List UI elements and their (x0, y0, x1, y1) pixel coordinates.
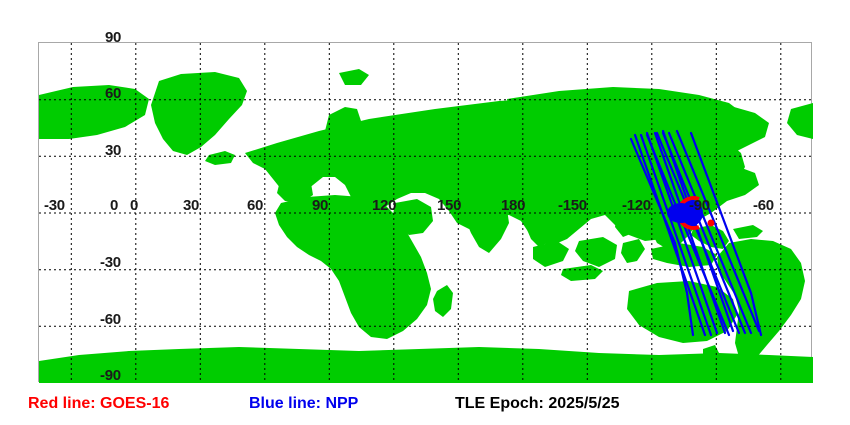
eurasia-wrap-shape (787, 103, 813, 139)
legend-blue-line-npp: Blue line: NPP (249, 396, 358, 412)
lat-label--30: -30 (100, 255, 121, 270)
lon-label-0: 0 (130, 198, 138, 213)
lat-label-60: 60 (105, 86, 121, 101)
iceland-shape (205, 151, 235, 165)
lat-label-0: 0 (110, 198, 118, 213)
svalbard-shape (339, 69, 369, 85)
antarctica-shape (39, 347, 813, 383)
java-shape (561, 265, 603, 281)
lon-label-60: 60 (247, 198, 263, 213)
legend-tle-epoch: TLE Epoch: 2025/5/25 (455, 396, 620, 412)
caribbean-shape (733, 225, 763, 239)
borneo-shape (575, 237, 617, 267)
lat-label-90: 90 (105, 30, 121, 45)
lon-label-180: 180 (501, 198, 525, 213)
lon-label--30: -30 (44, 198, 65, 213)
legend: Red line: GOES-16 Blue line: NPP TLE Epo… (0, 392, 850, 420)
legend-red-line-goes16: Red line: GOES-16 (28, 396, 169, 412)
lat-label-30: 30 (105, 143, 121, 158)
lon-label-30: 30 (183, 198, 199, 213)
lat-label--60: -60 (100, 312, 121, 327)
lon-label--90: -90 (689, 198, 710, 213)
lon-label-150: 150 (437, 198, 461, 213)
lon-label-120: 120 (372, 198, 396, 213)
north-america-arctic-shape (39, 85, 149, 139)
lat-label--90: -90 (100, 368, 121, 383)
lon-label--120: -120 (622, 198, 651, 213)
sulawesi-shape (621, 239, 645, 263)
goes16-red-dot (708, 220, 715, 227)
greenland-shape (151, 72, 247, 155)
lon-label-90: 90 (312, 198, 328, 213)
satellite-track-map-page: -30 0 30 60 90 120 150 180 -150 -120 -90… (0, 0, 850, 425)
lon-label--60: -60 (753, 198, 774, 213)
madagascar-shape (433, 285, 453, 317)
lon-label--150: -150 (558, 198, 587, 213)
